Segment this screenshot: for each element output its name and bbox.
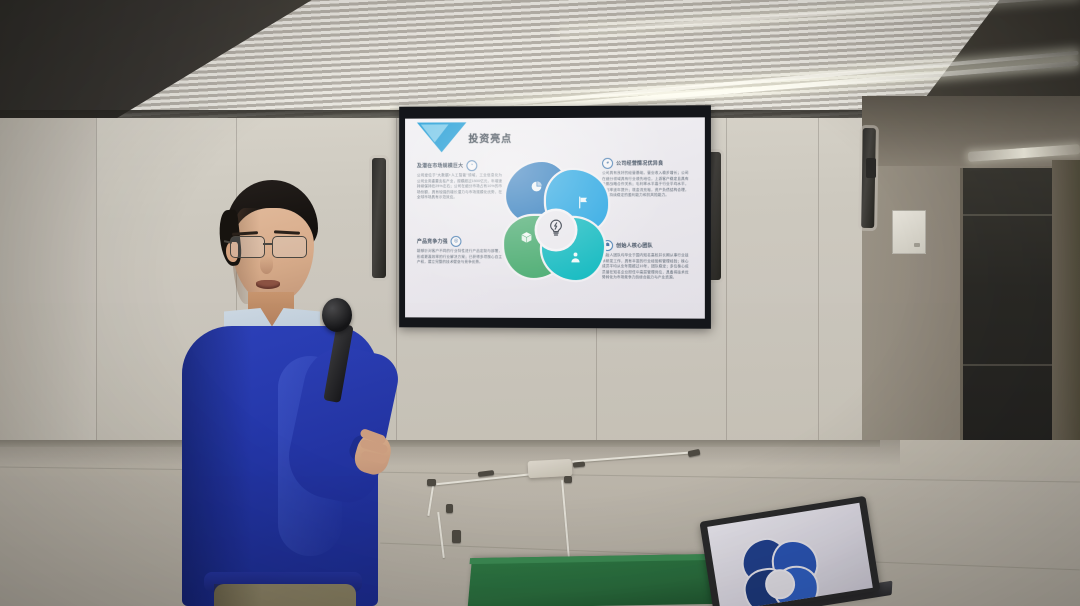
- slide-block-bottom-left: 产品竞争力强 ◎ 能够针对客户不同的行业特性进行产品定制与部署，形成更高效率的行…: [417, 236, 502, 266]
- presentation-room-photo: 投资亮点 及潜在市场规模巨大 ◔ 公司定位于"大数据+人工智能"领域，工业信息化…: [0, 0, 1080, 606]
- slide-block-top-left: 及潜在市场规模巨大 ◔ 公司定位于"大数据+人工智能"领域，工业信息化为公司业务…: [417, 160, 502, 201]
- cable-connector: [427, 479, 436, 486]
- door-panel-line: [963, 364, 1055, 366]
- slide-accent-triangle-icon: [417, 122, 466, 156]
- glasses-lens: [230, 236, 265, 258]
- projection-screen-frame: 投资亮点 及潜在市场规模巨大 ◔ 公司定位于"大数据+人工智能"领域，工业信息化…: [399, 105, 711, 328]
- sweater-shadow: [182, 326, 252, 606]
- projection-screen: 投资亮点 及潜在市场规模巨大 ◔ 公司定位于"大数据+人工智能"领域，工业信息化…: [405, 117, 705, 318]
- glasses-bridge: [263, 243, 272, 245]
- slide-block-body: 公司定位于"大数据+人工智能"领域，工业信息化为公司业务重要支柱产业，规模超过1…: [417, 173, 502, 201]
- slide-block-heading: 创始人核心团队: [616, 242, 653, 249]
- cable-connector: [564, 476, 572, 483]
- slide-block-bottom-right: 创始人核心团队 ☗ 创始人团队均毕业于国内知名高校并长期从事行业技术研发工作，具…: [602, 240, 689, 281]
- door-panel-line: [963, 214, 1055, 216]
- slide-block-top-right: 公司经营情况优异良 ◕ 公司具有良好的经营基础，营业收入稳步增长；公司在细分领域…: [602, 158, 689, 199]
- cube-icon: [520, 231, 533, 244]
- lightbulb-icon: [546, 217, 566, 242]
- cable-connector: [452, 530, 461, 543]
- slide-title: 投资亮点: [468, 130, 512, 145]
- wall-left-section: [0, 118, 96, 448]
- glasses-icon: [228, 236, 320, 258]
- wall-seam: [96, 118, 97, 448]
- laptop-slide-mirror: [738, 533, 823, 606]
- wall-seam: [818, 118, 819, 448]
- clock-icon: ◔: [466, 160, 477, 171]
- cable-connector: [446, 504, 453, 513]
- floor-wall-shadow: [0, 440, 900, 466]
- slide-block-body: 能够针对客户不同的行业特性进行产品定制与部署，形成更高效率的行业解决方案；已获得…: [417, 249, 502, 266]
- slide-block-heading: 及潜在市场规模巨大: [417, 162, 463, 169]
- slide-block-body: 创始人团队均毕业于国内知名高校并长期从事行业技术研发工作，具有丰富的行业经验和管…: [602, 253, 689, 281]
- pants-shadow: [214, 584, 262, 606]
- slide-block-heading: 公司经营情况优异良: [616, 160, 663, 167]
- wall-speaker-right: [861, 128, 876, 228]
- slide-block-body: 公司具有良好的经营基础，营业收入稳步增长；公司在细分领域具有行业领先地位，上游客…: [602, 171, 689, 199]
- speaker-mount: [866, 158, 876, 178]
- pie-chart-icon: [530, 180, 543, 193]
- wall-seam: [726, 118, 727, 448]
- presenter-nose: [260, 256, 273, 274]
- slide-block-heading: 产品竞争力强: [417, 238, 448, 245]
- presenter: [170, 180, 400, 606]
- target-icon: ◎: [451, 236, 462, 247]
- laptop-screen: [707, 503, 873, 606]
- glasses-lens: [272, 236, 307, 258]
- person-icon: [569, 251, 582, 264]
- microphone-icon: [322, 298, 352, 332]
- diagram-center: [537, 211, 575, 249]
- doorway[interactable]: [960, 168, 1055, 468]
- door-frame: [1052, 160, 1080, 480]
- wall-control-plate[interactable]: [892, 210, 926, 254]
- flag-icon: [577, 196, 590, 209]
- presenter-mouth: [256, 280, 280, 289]
- slide: 投资亮点 及潜在市场规模巨大 ◔ 公司定位于"大数据+人工智能"领域，工业信息化…: [405, 117, 705, 318]
- slide-petal-diagram: [504, 146, 608, 296]
